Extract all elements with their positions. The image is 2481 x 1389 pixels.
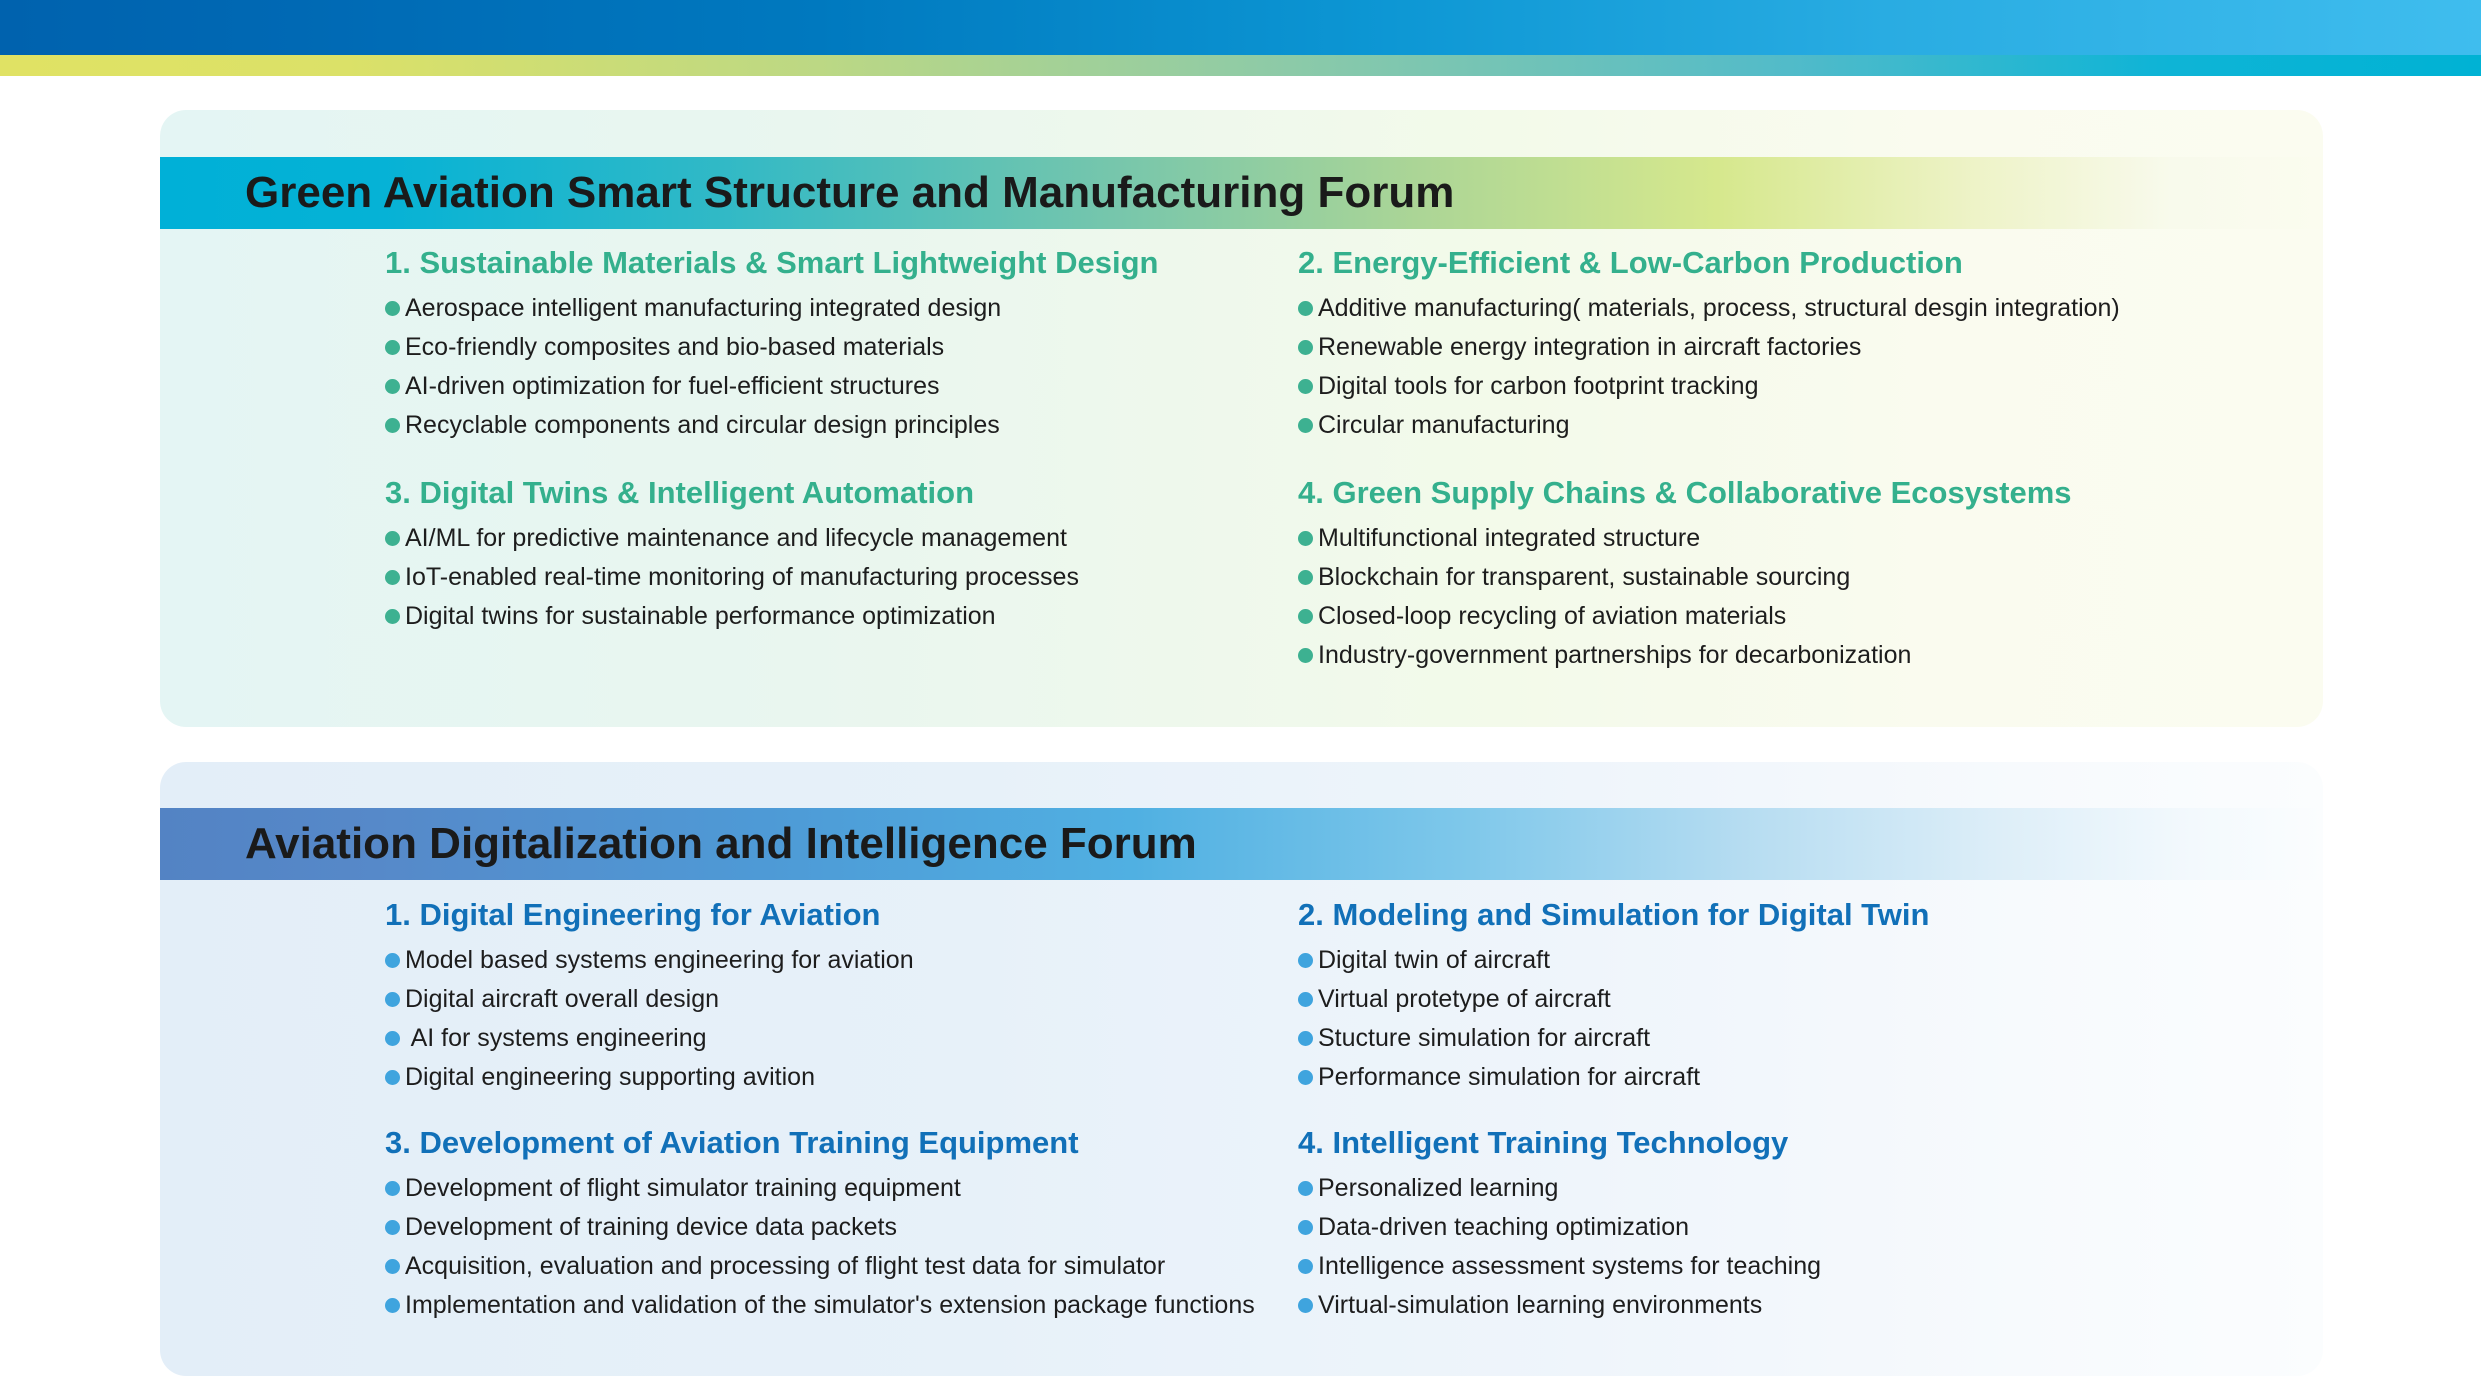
section-bullet-list: Model based systems engineering for avia…	[385, 946, 1245, 1091]
list-item: Renewable energy integration in aircraft…	[1298, 333, 2323, 361]
list-item-label: Digital tools for carbon footprint track…	[1318, 372, 1759, 400]
banner-blue-band	[0, 0, 2481, 55]
bullet-dot-icon	[385, 531, 400, 546]
forum-title-bar: Aviation Digitalization and Intelligence…	[160, 808, 2323, 880]
section-heading: 3. Development of Aviation Training Equi…	[385, 1125, 1245, 1161]
forum-section-2: 2. Energy-Efficient & Low-Carbon Product…	[1298, 245, 2323, 439]
list-item-label: Multifunctional integrated structure	[1318, 524, 1700, 552]
section-bullet-list: Aerospace intelligent manufacturing inte…	[385, 294, 1245, 439]
section-row-spacer	[1298, 1103, 2323, 1125]
list-item: Performance simulation for aircraft	[1298, 1063, 2323, 1091]
list-item: AI-driven optimization for fuel-efficien…	[385, 372, 1245, 400]
section-heading: 2. Modeling and Simulation for Digital T…	[1298, 897, 2323, 933]
bullet-dot-icon	[385, 609, 400, 624]
bullet-dot-icon	[385, 1259, 400, 1274]
list-item: AI/ML for predictive maintenance and lif…	[385, 524, 1245, 552]
list-item: Digital twins for sustainable performanc…	[385, 602, 1245, 630]
list-item: Virtual-simulation learning environments	[1298, 1291, 2323, 1319]
list-item: Virtual protetype of aircraft	[1298, 985, 2323, 1013]
section-heading: 1. Digital Engineering for Aviation	[385, 897, 1245, 933]
list-item: Digital tools for carbon footprint track…	[1298, 372, 2323, 400]
bullet-dot-icon	[1298, 1220, 1313, 1235]
bullet-dot-icon	[1298, 1031, 1313, 1046]
list-item: Aerospace intelligent manufacturing inte…	[385, 294, 1245, 322]
forum-column-left: 1. Digital Engineering for Aviation Mode…	[160, 897, 1245, 1330]
list-item-label: IoT-enabled real-time monitoring of manu…	[405, 563, 1079, 591]
list-item-label: Development of training device data pack…	[405, 1213, 897, 1241]
forum-title: Green Aviation Smart Structure and Manuf…	[160, 168, 1454, 218]
list-item-label: Development of flight simulator training…	[405, 1174, 961, 1202]
list-item-label: Circular manufacturing	[1318, 411, 1570, 439]
section-bullet-list: Digital twin of aircraft Virtual protety…	[1298, 946, 2323, 1091]
list-item: IoT-enabled real-time monitoring of manu…	[385, 563, 1245, 591]
list-item-label: Acquisition, evaluation and processing o…	[405, 1252, 1165, 1280]
bullet-dot-icon	[1298, 531, 1313, 546]
forum-title: Aviation Digitalization and Intelligence…	[160, 819, 1197, 869]
list-item-label: Intelligence assessment systems for teac…	[1318, 1252, 1821, 1280]
list-item: Closed-loop recycling of aviation materi…	[1298, 602, 2323, 630]
list-item-label: Personalized learning	[1318, 1174, 1558, 1202]
top-decorative-banner	[0, 0, 2481, 76]
forum-column-right: 2. Energy-Efficient & Low-Carbon Product…	[1245, 245, 2323, 680]
bullet-dot-icon	[385, 301, 400, 316]
forum-section-3: 3. Digital Twins & Intelligent Automatio…	[385, 475, 1245, 630]
bullet-dot-icon	[385, 953, 400, 968]
section-row-spacer	[1298, 451, 2323, 475]
bullet-dot-icon	[1298, 1181, 1313, 1196]
list-item-label: Virtual-simulation learning environments	[1318, 1291, 1762, 1319]
list-item-label: Renewable energy integration in aircraft…	[1318, 333, 1861, 361]
list-item-label: Closed-loop recycling of aviation materi…	[1318, 602, 1786, 630]
bullet-dot-icon	[385, 992, 400, 1007]
list-item: Multifunctional integrated structure	[1298, 524, 2323, 552]
forum-title-bar: Green Aviation Smart Structure and Manuf…	[160, 157, 2323, 229]
bullet-dot-icon	[1298, 648, 1313, 663]
bullet-dot-icon	[1298, 418, 1313, 433]
list-item-label: Virtual protetype of aircraft	[1318, 985, 1611, 1013]
forum-section-4: 4. Intelligent Training Technology Perso…	[1298, 1125, 2323, 1319]
forum-column-left: 1. Sustainable Materials & Smart Lightwe…	[160, 245, 1245, 680]
bullet-dot-icon	[385, 570, 400, 585]
section-heading: 1. Sustainable Materials & Smart Lightwe…	[385, 245, 1245, 281]
section-bullet-list: Development of flight simulator training…	[385, 1174, 1245, 1319]
list-item-label: Digital aircraft overall design	[405, 985, 719, 1013]
forum-section-3: 3. Development of Aviation Training Equi…	[385, 1125, 1245, 1319]
forum-column-right: 2. Modeling and Simulation for Digital T…	[1245, 897, 2323, 1330]
list-item-label: Recyclable components and circular desig…	[405, 411, 1000, 439]
list-item-label: Aerospace intelligent manufacturing inte…	[405, 294, 1001, 322]
bullet-dot-icon	[385, 418, 400, 433]
list-item: Additive manufacturing( materials, proce…	[1298, 294, 2323, 322]
list-item-label: Additive manufacturing( materials, proce…	[1318, 294, 2120, 322]
forum-card-green-aviation: Green Aviation Smart Structure and Manuf…	[160, 110, 2323, 727]
bullet-dot-icon	[1298, 953, 1313, 968]
forum-section-2: 2. Modeling and Simulation for Digital T…	[1298, 897, 2323, 1091]
list-item: Data-driven teaching optimization	[1298, 1213, 2323, 1241]
bullet-dot-icon	[1298, 992, 1313, 1007]
list-item: Digital engineering supporting avition	[385, 1063, 1245, 1091]
section-row-spacer	[385, 451, 1245, 475]
list-item-label: Industry-government partnerships for dec…	[1318, 641, 1911, 669]
list-item-label: Performance simulation for aircraft	[1318, 1063, 1700, 1091]
section-bullet-list: Multifunctional integrated structure Blo…	[1298, 524, 2323, 669]
list-item: Acquisition, evaluation and processing o…	[385, 1252, 1245, 1280]
list-item: AI for systems engineering	[385, 1024, 1245, 1052]
list-item: Eco-friendly composites and bio-based ma…	[385, 333, 1245, 361]
list-item: Industry-government partnerships for dec…	[1298, 641, 2323, 669]
forum-section-1: 1. Digital Engineering for Aviation Mode…	[385, 897, 1245, 1091]
section-heading: 3. Digital Twins & Intelligent Automatio…	[385, 475, 1245, 511]
list-item-label: Blockchain for transparent, sustainable …	[1318, 563, 1850, 591]
forum-card-aviation-digitalization: Aviation Digitalization and Intelligence…	[160, 762, 2323, 1376]
bullet-dot-icon	[385, 1070, 400, 1085]
section-heading: 4. Green Supply Chains & Collaborative E…	[1298, 475, 2323, 511]
section-bullet-list: Additive manufacturing( materials, proce…	[1298, 294, 2323, 439]
bullet-dot-icon	[1298, 1298, 1313, 1313]
list-item-label: AI for systems engineering	[405, 1024, 707, 1052]
list-item-label: Model based systems engineering for avia…	[405, 946, 914, 974]
section-bullet-list: AI/ML for predictive maintenance and lif…	[385, 524, 1245, 630]
bullet-dot-icon	[385, 1031, 400, 1046]
bullet-dot-icon	[1298, 379, 1313, 394]
list-item-label: Data-driven teaching optimization	[1318, 1213, 1689, 1241]
list-item: Blockchain for transparent, sustainable …	[1298, 563, 2323, 591]
list-item-label: Implementation and validation of the sim…	[405, 1291, 1255, 1319]
list-item-label: AI/ML for predictive maintenance and lif…	[405, 524, 1067, 552]
bullet-dot-icon	[1298, 570, 1313, 585]
list-item-label: Eco-friendly composites and bio-based ma…	[405, 333, 944, 361]
bullet-dot-icon	[1298, 1070, 1313, 1085]
list-item-label: AI-driven optimization for fuel-efficien…	[405, 372, 940, 400]
list-item: Implementation and validation of the sim…	[385, 1291, 1245, 1319]
bullet-dot-icon	[385, 379, 400, 394]
section-heading: 4. Intelligent Training Technology	[1298, 1125, 2323, 1161]
bullet-dot-icon	[385, 340, 400, 355]
forum-sections-grid: 1. Digital Engineering for Aviation Mode…	[160, 897, 2323, 1330]
list-item: Intelligence assessment systems for teac…	[1298, 1252, 2323, 1280]
list-item: Circular manufacturing	[1298, 411, 2323, 439]
bullet-dot-icon	[1298, 340, 1313, 355]
bullet-dot-icon	[385, 1220, 400, 1235]
section-row-spacer	[385, 1103, 1245, 1125]
list-item: Development of training device data pack…	[385, 1213, 1245, 1241]
forum-sections-grid: 1. Sustainable Materials & Smart Lightwe…	[160, 245, 2323, 680]
forum-section-1: 1. Sustainable Materials & Smart Lightwe…	[385, 245, 1245, 439]
list-item: Stucture simulation for aircraft	[1298, 1024, 2323, 1052]
bullet-dot-icon	[385, 1298, 400, 1313]
list-item: Digital twin of aircraft	[1298, 946, 2323, 974]
list-item: Model based systems engineering for avia…	[385, 946, 1245, 974]
list-item-label: Digital twins for sustainable performanc…	[405, 602, 996, 630]
list-item-label: Digital twin of aircraft	[1318, 946, 1550, 974]
list-item: Digital aircraft overall design	[385, 985, 1245, 1013]
section-bullet-list: Personalized learning Data-driven teachi…	[1298, 1174, 2323, 1319]
list-item: Personalized learning	[1298, 1174, 2323, 1202]
banner-accent-band	[0, 55, 2481, 76]
bullet-dot-icon	[385, 1181, 400, 1196]
list-item-label: Stucture simulation for aircraft	[1318, 1024, 1650, 1052]
section-heading: 2. Energy-Efficient & Low-Carbon Product…	[1298, 245, 2323, 281]
list-item-label: Digital engineering supporting avition	[405, 1063, 815, 1091]
list-item: Recyclable components and circular desig…	[385, 411, 1245, 439]
bullet-dot-icon	[1298, 609, 1313, 624]
forum-section-4: 4. Green Supply Chains & Collaborative E…	[1298, 475, 2323, 669]
bullet-dot-icon	[1298, 301, 1313, 316]
list-item: Development of flight simulator training…	[385, 1174, 1245, 1202]
bullet-dot-icon	[1298, 1259, 1313, 1274]
